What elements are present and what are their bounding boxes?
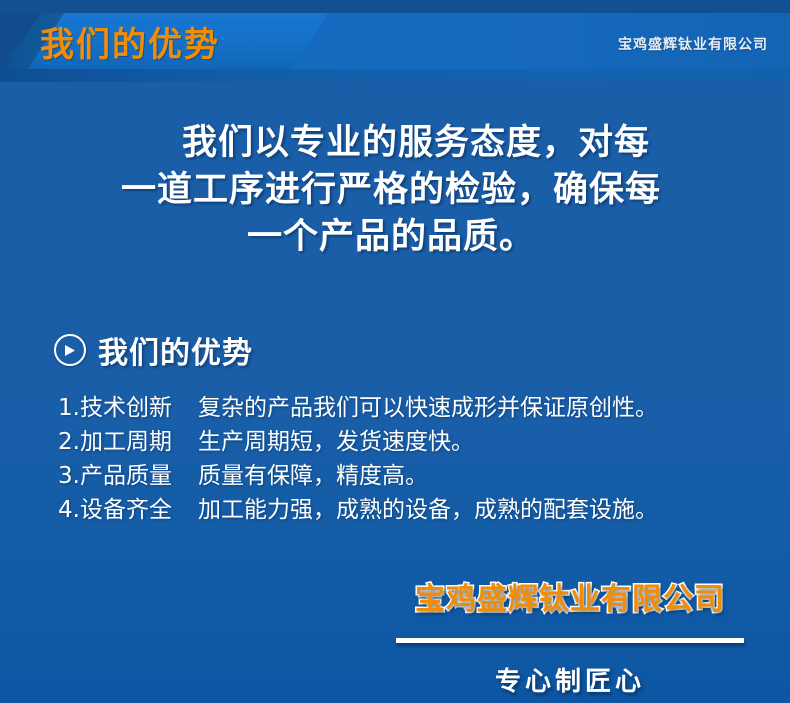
list-item-index: 4. [58,497,80,523]
hero-statement: 我们以专业的服务态度，对每 一道工序进行严格的检验，确保每 一个产品的品质。 [0,120,790,261]
list-item-key: 设备齐全 [80,490,172,524]
hero-line-1: 我们以专业的服务态度，对每 [0,120,790,167]
list-item-key: 产品质量 [80,456,172,490]
banner-bottom-strip [0,69,790,82]
footer-slogan: 专心制匠心 [390,661,750,698]
footer-divider [396,638,744,643]
advantages-heading: 我们的优势 [54,328,253,372]
list-item-key: 技术创新 [80,388,172,422]
list-item-key: 加工周期 [80,422,172,456]
list-item: 4. 设备齐全 加工能力强，成熟的设备，成熟的配套设施。 [58,490,758,524]
list-item-value: 加工能力强，成熟的设备，成熟的配套设施。 [198,490,658,524]
list-item-value: 复杂的产品我们可以快速成形并保证原创性。 [198,388,658,422]
list-item: 1. 技术创新 复杂的产品我们可以快速成形并保证原创性。 [58,388,758,422]
header-banner: 我们的优势 宝鸡盛辉钛业有限公司 [0,0,790,82]
banner-company-name: 宝鸡盛辉钛业有限公司 [618,34,768,54]
list-item-value: 生产周期短，发货速度快。 [198,422,474,456]
advantages-list: 1. 技术创新 复杂的产品我们可以快速成形并保证原创性。 2. 加工周期 生产周… [58,388,758,524]
footer-company-name: 宝鸡盛辉钛业有限公司 [390,578,750,622]
list-item-index: 3. [58,463,80,489]
banner-title: 我们的优势 [40,17,220,66]
hero-line-2: 一道工序进行严格的检验，确保每 [0,167,790,214]
list-item-index: 2. [58,429,80,455]
list-item-index: 1. [58,395,80,421]
play-circle-icon [54,334,86,366]
list-item-value: 质量有保障，精度高。 [198,456,428,490]
hero-line-3: 一个产品的品质。 [0,214,790,261]
footer: 宝鸡盛辉钛业有限公司 专心制匠心 [390,578,750,698]
list-item: 2. 加工周期 生产周期短，发货速度快。 [58,422,758,456]
promo-banner-page: 我们的优势 宝鸡盛辉钛业有限公司 我们以专业的服务态度，对每 一道工序进行严格的… [0,0,790,703]
list-item: 3. 产品质量 质量有保障，精度高。 [58,456,758,490]
advantages-title: 我们的优势 [98,328,253,372]
banner-top-strip [0,0,790,13]
